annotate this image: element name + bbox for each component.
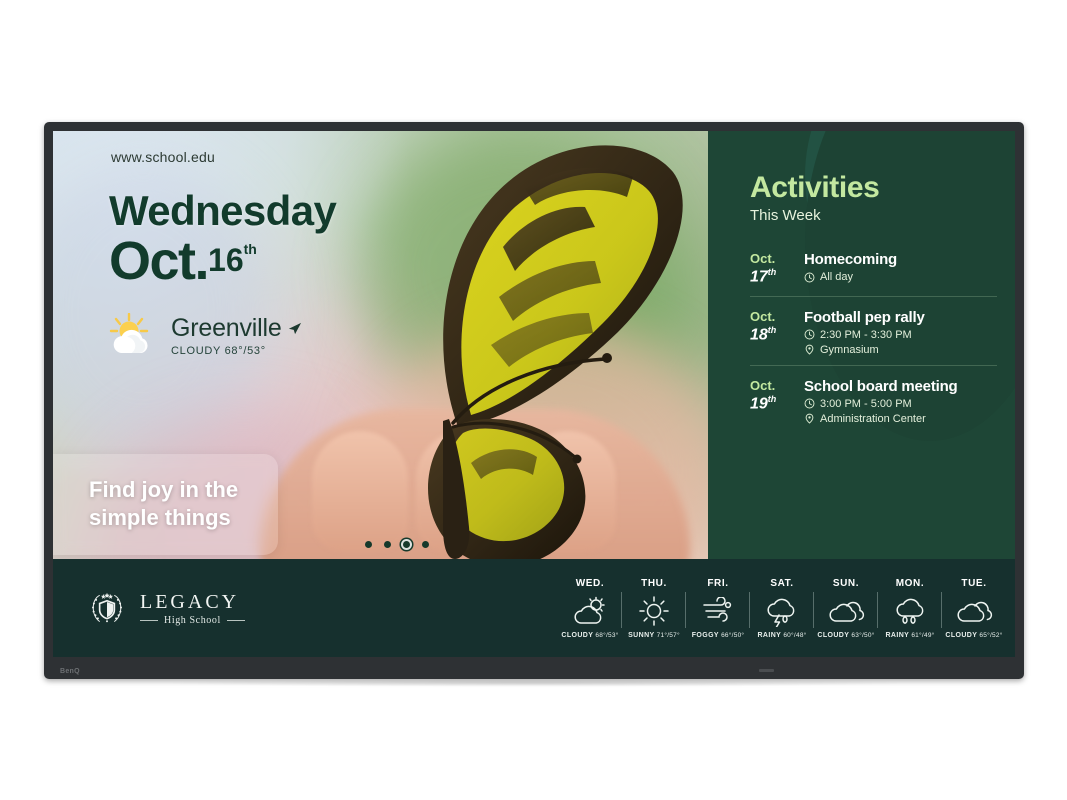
activity-location: Administration Center [820,413,926,425]
activity-item[interactable]: Oct. 17th Homecoming [750,242,997,296]
activity-month: Oct. [750,379,790,394]
quote-line-1: Find joy in the [89,476,258,504]
activity-location-row: Administration Center [804,413,997,425]
activities-list: Oct. 17th Homecoming [750,242,997,434]
device-brand-label: BenQ [60,668,80,675]
activities-panel: Activities This Week Oct. 17th Homecomin… [708,131,1015,559]
hero-condition-temps: CLOUDY 68°/53° [171,345,302,357]
activity-date: Oct. 19th [750,378,790,425]
quote-card: Find joy in the simple things [53,454,278,555]
forecast-day-name: FRI. [687,578,749,589]
quote-text: Find joy in the simple things [89,476,258,531]
map-pin-icon [804,344,815,355]
activity-body: Football pep rally 2:30 PM - 3:30 PM [804,309,997,356]
carousel-dot-2[interactable] [384,541,391,548]
activity-day: 17th [750,267,790,287]
forecast-day[interactable]: TUE. CLOUDY 65°/52° [943,578,1005,639]
activity-item[interactable]: Oct. 18th Football pep rally [750,296,997,365]
forecast-condition-temps: RAINY 61°/49° [879,632,941,639]
logo-rule-right [227,620,245,621]
weekly-forecast: WED. CLOUDY 68°/53° [337,578,1005,639]
clock-icon [804,398,815,409]
carousel-dots[interactable] [365,541,429,548]
school-url: www.school.edu [111,149,215,165]
activity-body: School board meeting 3:00 PM - 5:00 PM [804,378,997,425]
activity-name: School board meeting [804,378,997,395]
hero-month: Oct. [109,236,208,287]
activity-time-row: 2:30 PM - 3:30 PM [804,329,997,341]
forecast-day[interactable]: MON. RAINY 61°/49° [879,578,941,639]
activity-time: 2:30 PM - 3:30 PM [820,329,912,341]
hero-slide[interactable]: www.school.edu Wednesday Oct. 16 th [53,131,708,559]
forecast-day-name: WED. [559,578,621,589]
activity-day: 18th [750,325,790,345]
activity-time: All day [820,271,853,283]
hero-location-row: Greenville [171,314,302,343]
screen-bezel: www.school.edu Wednesday Oct. 16 th [53,131,1015,657]
footer-bar: LEGACY High School WED. [53,559,1015,657]
rainy-icon [879,594,941,628]
hero-weather-block: Greenville CLOUDY 68°/53° [109,313,302,357]
windy-icon [687,594,749,628]
activity-location-row: Gymnasium [804,344,997,356]
forecast-condition-temps: SUNNY 71°/57° [623,632,685,639]
thunderstorm-icon [751,594,813,628]
carousel-dot-4[interactable] [422,541,429,548]
activity-month: Oct. [750,252,790,267]
activity-time-row: 3:00 PM - 5:00 PM [804,398,997,410]
carousel-dot-3-active[interactable] [403,541,410,548]
forecast-condition-temps: RAINY 60°/48° [751,632,813,639]
school-tagline: High School [164,615,221,626]
activity-name: Football pep rally [804,309,997,326]
activities-title: Activities [750,171,997,205]
clock-icon [804,272,815,283]
sunny-icon [623,594,685,628]
forecast-day[interactable]: WED. CLOUDY 68°/53° [559,578,621,639]
forecast-condition-temps: CLOUDY 63°/50° [815,632,877,639]
activity-day: 19th [750,394,790,414]
monitor-stand-shadow [150,679,920,687]
quote-line-2: simple things [89,504,258,532]
forecast-day-name: MON. [879,578,941,589]
activity-name: Homecoming [804,251,997,268]
cloudy-icon [815,594,877,628]
hero-day-number: 16 [208,236,244,286]
activity-time: 3:00 PM - 5:00 PM [820,398,912,410]
school-tagline-row: High School [140,615,245,626]
ir-sensor [759,669,774,672]
activity-body: Homecoming All day [804,251,997,287]
activity-date: Oct. 18th [750,309,790,356]
partly-cloudy-icon [109,313,161,357]
forecast-day[interactable]: SUN. CLOUDY 63°/50° [815,578,877,639]
school-logo: LEGACY High School [87,588,337,628]
screen-content: www.school.edu Wednesday Oct. 16 th [53,131,1015,657]
school-name: LEGACY [140,591,245,614]
forecast-day-name: THU. [623,578,685,589]
activities-subtitle: This Week [750,207,997,224]
shield-laurel-crest-icon [87,588,127,628]
activity-item[interactable]: Oct. 19th School board meeting [750,365,997,434]
school-logo-text: LEGACY High School [140,591,245,626]
activity-date: Oct. 17th [750,251,790,287]
activity-location: Gymnasium [820,344,879,356]
activity-month: Oct. [750,310,790,325]
forecast-condition-temps: CLOUDY 65°/52° [943,632,1005,639]
forecast-day-name: SAT. [751,578,813,589]
partly-cloudy-icon [559,594,621,628]
forecast-condition-temps: FOGGY 66°/50° [687,632,749,639]
hero-weather-text: Greenville CLOUDY 68°/53° [171,314,302,357]
hero-date: Oct. 16 th [109,236,257,287]
hero-city-name: Greenville [171,314,282,343]
map-pin-icon [804,413,815,424]
forecast-condition-temps: CLOUDY 68°/53° [559,632,621,639]
display-monitor: BenQ [44,122,1024,679]
hero-day-suffix: th [244,242,257,257]
location-arrow-icon [287,321,302,336]
partly-cloudy-icon [943,594,1005,628]
forecast-day[interactable]: SAT. RAINY 60°/48° [751,578,813,639]
forecast-day[interactable]: FRI. FOGGY 66°/50° [687,578,749,639]
logo-rule-left [140,620,158,621]
clock-icon [804,329,815,340]
screen-upper-region: www.school.edu Wednesday Oct. 16 th [53,131,1015,559]
carousel-dot-1[interactable] [365,541,372,548]
forecast-day-name: SUN. [815,578,877,589]
hero-weekday: Wednesday [109,187,336,235]
forecast-day[interactable]: THU. SUNNY 71°/57° [623,578,685,639]
forecast-day-name: TUE. [943,578,1005,589]
activity-time-row: All day [804,271,997,283]
activities-content: Activities This Week Oct. 17th Homecomin… [750,171,1015,434]
